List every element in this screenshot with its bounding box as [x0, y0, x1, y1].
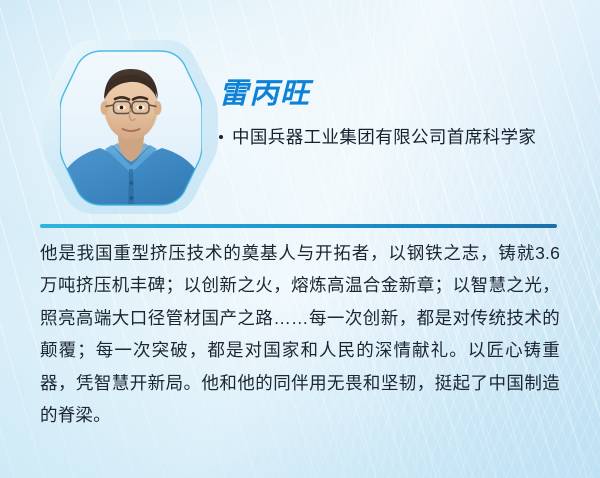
person-name: 雷丙旺	[219, 70, 311, 112]
bullet-icon	[219, 135, 223, 139]
profile-card: 雷丙旺 中国兵器工业集团有限公司首席科学家 他是我国重型挤压技术的奠基人与开拓者…	[0, 0, 600, 478]
section-divider	[40, 224, 557, 228]
person-role-row: 中国兵器工业集团有限公司首席科学家	[219, 122, 567, 153]
body-paragraph: 他是我国重型挤压技术的奠基人与开拓者，以钢铁之志，铸就3.6万吨挤压机丰碑；以创…	[40, 237, 560, 431]
portrait-block	[42, 36, 218, 218]
person-role: 中国兵器工业集团有限公司首席科学家	[232, 122, 536, 153]
portrait-photo	[60, 49, 202, 207]
portrait-frame	[60, 49, 202, 207]
